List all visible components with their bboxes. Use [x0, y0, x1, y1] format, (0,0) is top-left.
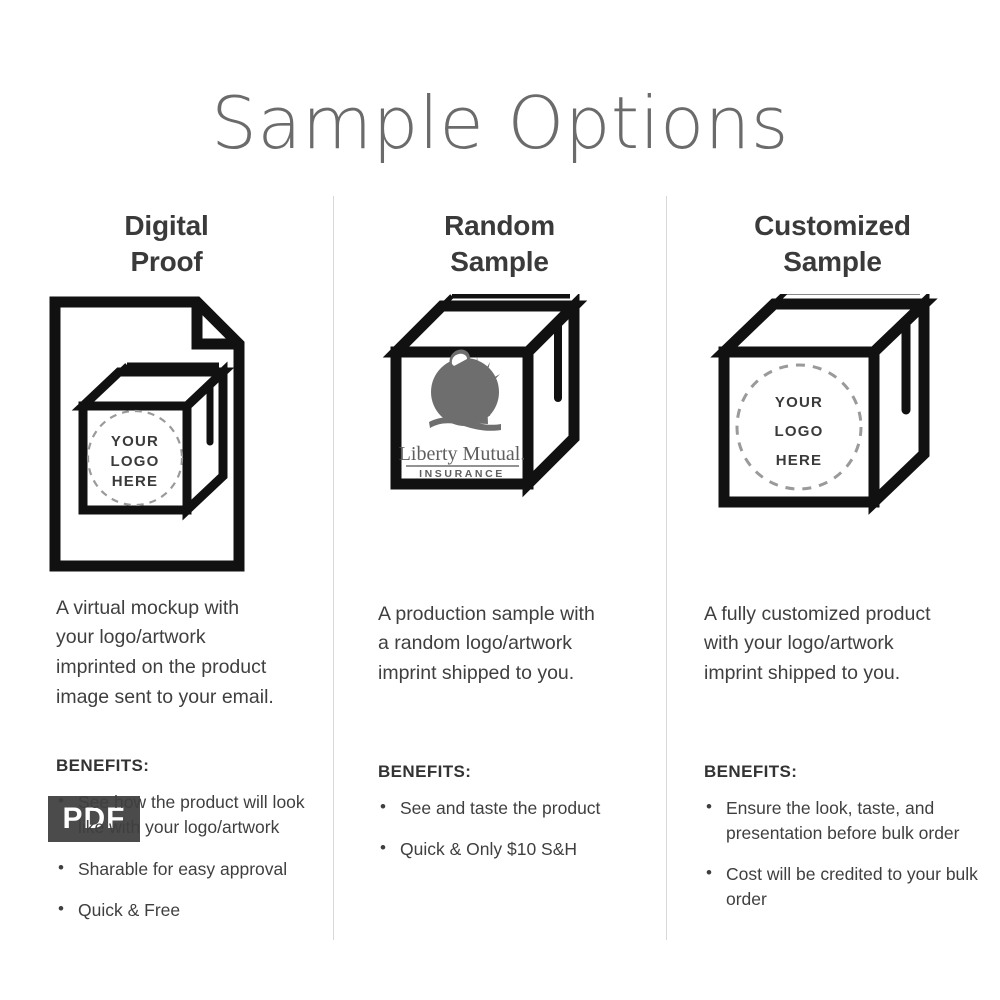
- pdf-document-icon: YOUR LOGO HERE: [47, 294, 287, 574]
- logo-placeholder-line2: LOGO: [774, 423, 823, 440]
- brand-wordmark: Liberty Mutual.: [398, 443, 525, 465]
- column-description-digital-proof: A virtual mockup with your logo/artwork …: [56, 594, 318, 713]
- benefits-label-random-sample: BENEFITS:: [378, 762, 666, 782]
- benefits-label-digital-proof: BENEFITS:: [56, 756, 333, 776]
- column-description-customized-sample: A fully customized product with your log…: [704, 600, 980, 689]
- benefit-item: See and taste the product: [378, 796, 638, 821]
- logo-placeholder-line3: HERE: [111, 473, 157, 490]
- column-customized-sample: Customized Sample YOUR LOGO HERE: [666, 196, 999, 956]
- artwork-box-with-logo-placeholder: YOUR LOGO HERE: [666, 294, 999, 594]
- artwork-pdf-document-with-box: YOUR LOGO HERE PDF: [0, 294, 333, 594]
- benefit-item: Quick & Only $10 S&H: [378, 837, 638, 862]
- logo-placeholder-line1: YOUR: [774, 394, 822, 411]
- column-heading-random-sample: Random Sample: [333, 196, 666, 280]
- benefit-item: See how the product will look like with …: [56, 790, 324, 840]
- column-heading-line1: Customized: [666, 208, 999, 244]
- column-heading-customized-sample: Customized Sample: [666, 196, 999, 280]
- benefit-item: Cost will be credited to your bulk order: [704, 862, 994, 912]
- benefits-list-random-sample: See and taste the product Quick & Only $…: [378, 796, 638, 862]
- logo-placeholder-line3: HERE: [775, 452, 821, 469]
- shipping-box-icon: YOUR LOGO HERE: [708, 294, 958, 544]
- logo-placeholder-line1: YOUR: [110, 433, 158, 450]
- column-heading-line2: Proof: [0, 244, 333, 280]
- artwork-box-with-liberty-mutual-logo: Liberty Mutual. INSURANCE: [333, 294, 666, 594]
- brand-tagline: INSURANCE: [419, 468, 505, 480]
- column-heading-line1: Digital: [0, 208, 333, 244]
- benefits-list-customized-sample: Ensure the look, taste, and presentation…: [704, 796, 994, 913]
- shipping-box-icon: Liberty Mutual. INSURANCE: [380, 294, 620, 544]
- column-heading-digital-proof: Digital Proof: [0, 196, 333, 280]
- benefit-item: Quick & Free: [56, 898, 324, 923]
- infographic-page: Sample Options Digital Proof: [0, 0, 1000, 1000]
- benefits-label-customized-sample: BENEFITS:: [704, 762, 999, 782]
- column-random-sample: Random Sample: [333, 196, 666, 956]
- benefit-item: Sharable for easy approval: [56, 857, 324, 882]
- column-digital-proof: Digital Proof YOUR: [0, 196, 333, 956]
- page-title: Sample Options: [0, 84, 1000, 163]
- benefits-list-digital-proof: See how the product will look like with …: [56, 790, 324, 923]
- column-description-random-sample: A production sample with a random logo/a…: [378, 600, 640, 689]
- logo-placeholder-line2: LOGO: [110, 453, 159, 470]
- column-heading-line1: Random: [333, 208, 666, 244]
- column-heading-line2: Sample: [666, 244, 999, 280]
- benefit-item: Ensure the look, taste, and presentation…: [704, 796, 994, 846]
- column-heading-line2: Sample: [333, 244, 666, 280]
